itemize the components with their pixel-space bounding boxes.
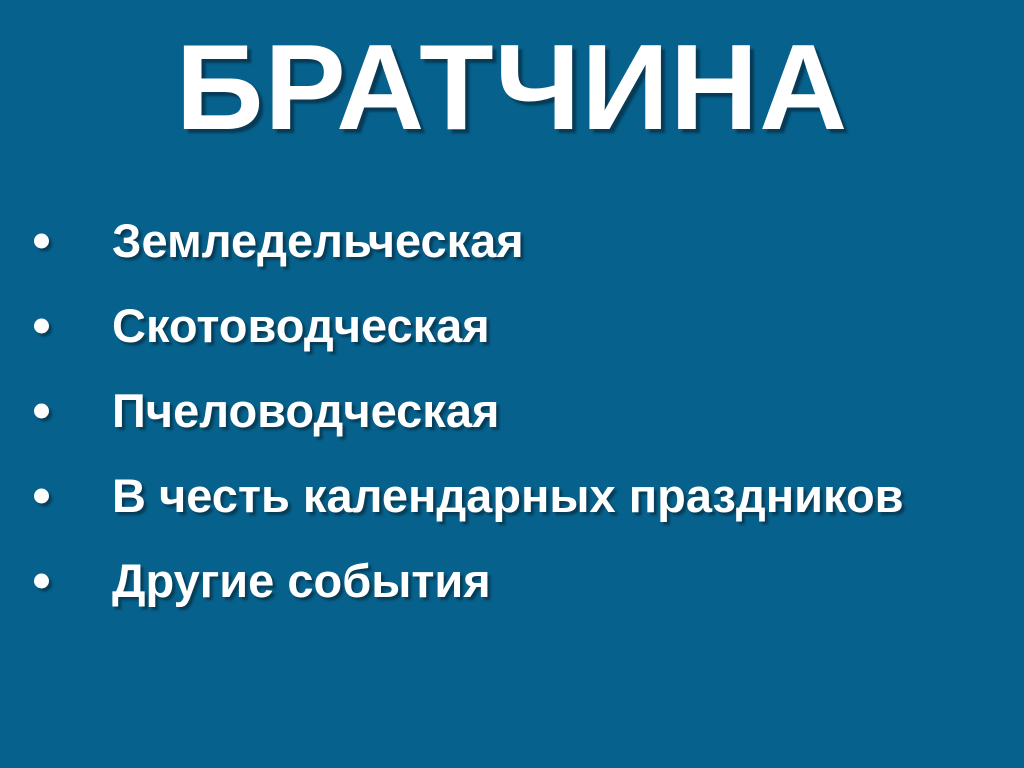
list-item-label: Другие события: [112, 555, 491, 607]
bullet-list: Земледельческая Скотоводческая Пчеловодч…: [0, 198, 1024, 623]
page-title: БРАТЧИНА: [0, 28, 1024, 146]
list-item-label: Земледельческая: [112, 215, 524, 267]
list-item: Пчеловодческая: [0, 368, 1024, 453]
list-item-label: В честь календарных праздников: [112, 470, 904, 522]
list-item: Земледельческая: [0, 198, 1024, 283]
list-item-label: Скотоводческая: [112, 300, 490, 352]
list-item: В честь календарных праздников: [0, 453, 1024, 538]
bullet-dot-icon: [34, 488, 49, 503]
list-item: Скотоводческая: [0, 283, 1024, 368]
bullet-dot-icon: [34, 233, 49, 248]
list-item-label: Пчеловодческая: [112, 385, 499, 437]
presentation-slide: БРАТЧИНА Земледельческая Скотоводческая …: [0, 0, 1024, 768]
bullet-dot-icon: [34, 403, 49, 418]
bullet-dot-icon: [34, 573, 49, 588]
bullet-dot-icon: [34, 318, 49, 333]
list-item: Другие события: [0, 538, 1024, 623]
